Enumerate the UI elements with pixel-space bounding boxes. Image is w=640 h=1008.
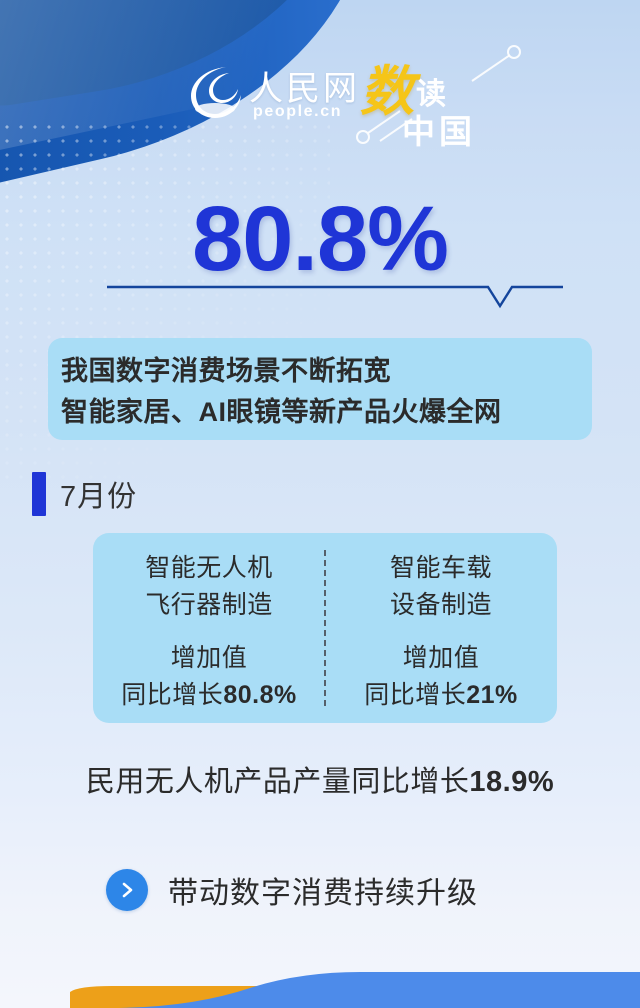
hero-underline-rule — [105, 284, 565, 310]
stat-name-line1: 智能无人机 — [145, 550, 273, 587]
production-line: 民用无人机产品产量同比增长18.9% — [0, 758, 640, 800]
stat-change-prefix: 同比增长 — [364, 681, 466, 709]
stats-dashed-divider — [324, 550, 326, 706]
series-logo: 数 读 中国 — [360, 33, 530, 153]
stats-card: 智能无人机 飞行器制造 增加值 同比增长80.8% 智能车载 设备制造 增加值 … — [93, 533, 557, 723]
stat-change-prefix: 同比增长 — [121, 681, 223, 709]
period-label: 7月份 — [32, 472, 137, 516]
production-value: 18.9% — [469, 766, 554, 798]
period-text: 7月份 — [60, 473, 137, 515]
org-domain: people.cn — [253, 103, 342, 121]
stat-column-drone: 智能无人机 飞行器制造 增加值 同比增长80.8% — [93, 533, 325, 723]
production-prefix: 民用无人机产品产量同比增长 — [86, 766, 470, 798]
brand-header: 人民网 people.cn 数 读 中国 — [185, 55, 525, 150]
stat-name-line2: 设备制造 — [390, 587, 492, 624]
footer-decoration — [0, 928, 640, 1008]
people-globe-icon — [185, 63, 243, 121]
stat-metric: 增加值 — [403, 640, 480, 677]
stat-metric: 增加值 — [171, 640, 248, 677]
stat-change-value: 21% — [466, 681, 518, 709]
period-accent-bar — [32, 472, 46, 516]
headline-line-1: 我国数字消费场景不断拓宽 — [61, 351, 592, 392]
callout-text: 带动数字消费持续升级 — [168, 868, 478, 912]
infographic-poster: 人民网 people.cn 数 读 中国 80.8% 我国数字消费场景不断拓宽 … — [0, 0, 640, 1008]
stat-name-line2: 飞行器制造 — [145, 587, 273, 624]
stat-column-vehicle: 智能车载 设备制造 增加值 同比增长21% — [325, 533, 557, 723]
headline-box: 我国数字消费场景不断拓宽 智能家居、AI眼镜等新产品火爆全网 — [48, 338, 592, 440]
callout-row: 带动数字消费持续升级 — [106, 868, 478, 912]
headline-line-2: 智能家居、AI眼镜等新产品火爆全网 — [61, 392, 592, 433]
chevron-right-icon — [106, 869, 148, 911]
stat-change: 同比增长80.8% — [121, 677, 296, 714]
stat-name-line1: 智能车载 — [390, 550, 492, 587]
stat-change-value: 80.8% — [223, 681, 296, 709]
hero-value: 80.8% — [0, 193, 640, 285]
stat-change: 同比增长21% — [364, 677, 518, 714]
series-char-zhongguo: 中国 — [402, 105, 476, 153]
